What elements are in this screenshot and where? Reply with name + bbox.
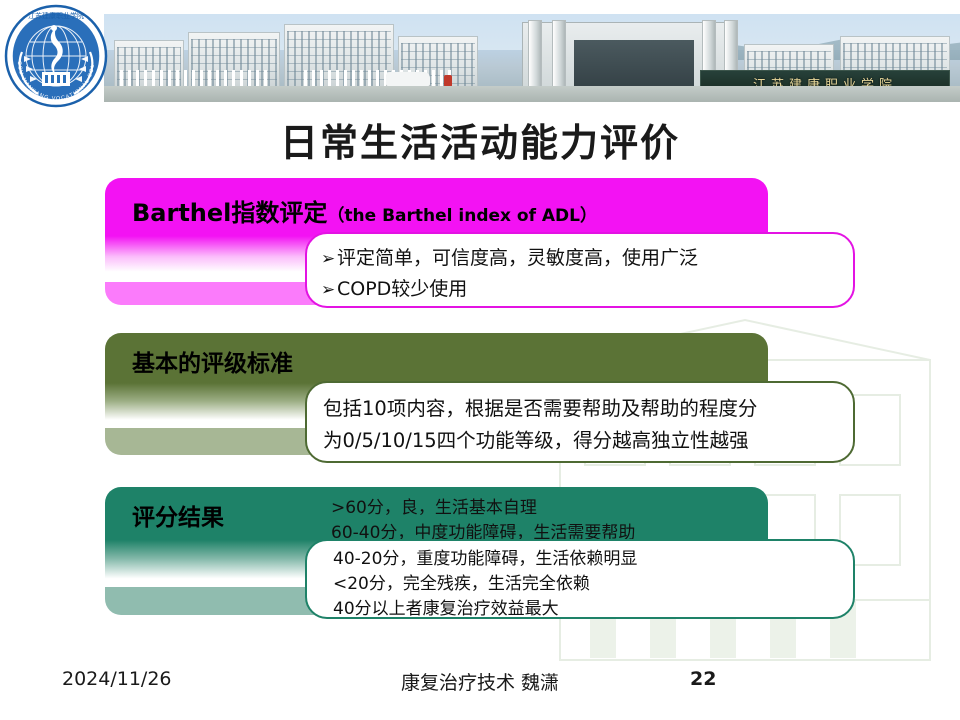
page-title: 日常生活活动能力评价 [0, 112, 960, 167]
header-band: 江苏建康职业学院 [0, 0, 960, 112]
section-label-barthel-en: （the Barthel index of ADL） [327, 206, 597, 226]
photo-ground [104, 86, 960, 102]
callout-barthel: ➢评定简单，可信度高，灵敏度高，使用广泛 ➢COPD较少使用 [305, 232, 855, 308]
callout-score: 40-20分，重度功能障碍，生活依赖明显 <20分，完全残疾，生活完全依赖 40… [305, 539, 855, 619]
bullet-text: COPD较少使用 [337, 278, 467, 300]
section-label-score: 评分结果 [132, 498, 224, 532]
score-line: <20分，完全残疾，生活完全依赖 [333, 572, 837, 597]
section-label-criteria: 基本的评级标准 [132, 344, 293, 378]
callout-line: 为0/5/10/15四个功能等级，得分越高独立性越强 [323, 425, 837, 457]
photo-vehicle [386, 72, 430, 86]
bullet-item: ➢COPD较少使用 [321, 274, 839, 305]
bullet-item: ➢评定简单，可信度高，灵敏度高，使用广泛 [321, 243, 839, 274]
score-line: 40分以上者康复治疗效益最大 [333, 597, 837, 622]
photo-gate-pillar [552, 20, 566, 94]
photo-gate-pillar [528, 20, 542, 94]
score-line: 40-20分，重度功能障碍，生活依赖明显 [333, 547, 837, 572]
callout-line: 包括10项内容，根据是否需要帮助及帮助的程度分 [323, 393, 837, 425]
callout-criteria: 包括10项内容，根据是否需要帮助及帮助的程度分 为0/5/10/15四个功能等级… [305, 381, 855, 463]
arrow-bullet-icon: ➢ [321, 244, 337, 274]
footer-course-name: 康复治疗技术 魏潇 [0, 668, 960, 695]
section-label-barthel: Barthel指数评定（the Barthel index of ADL） [132, 193, 597, 228]
section-label-barthel-cn: Barthel指数评定 [132, 199, 327, 227]
score-line: >60分，良，生活基本自理 [331, 496, 851, 521]
college-logo-icon: 江苏建康职业学院 JIANGSU JIANKANG VOCATIONAL COL… [4, 4, 108, 108]
bullet-text: 评定简单，可信度高，灵敏度高，使用广泛 [337, 247, 698, 269]
arrow-bullet-icon: ➢ [321, 275, 337, 305]
slide: 江苏建康职业学院 [0, 0, 960, 720]
logo-title-cn: 江苏建康职业学院 [28, 11, 84, 20]
footer-page-number: 22 [690, 668, 716, 690]
campus-photo: 江苏建康职业学院 [104, 14, 960, 102]
slide-footer: 2024/11/26 康复治疗技术 魏潇 22 [0, 668, 960, 708]
